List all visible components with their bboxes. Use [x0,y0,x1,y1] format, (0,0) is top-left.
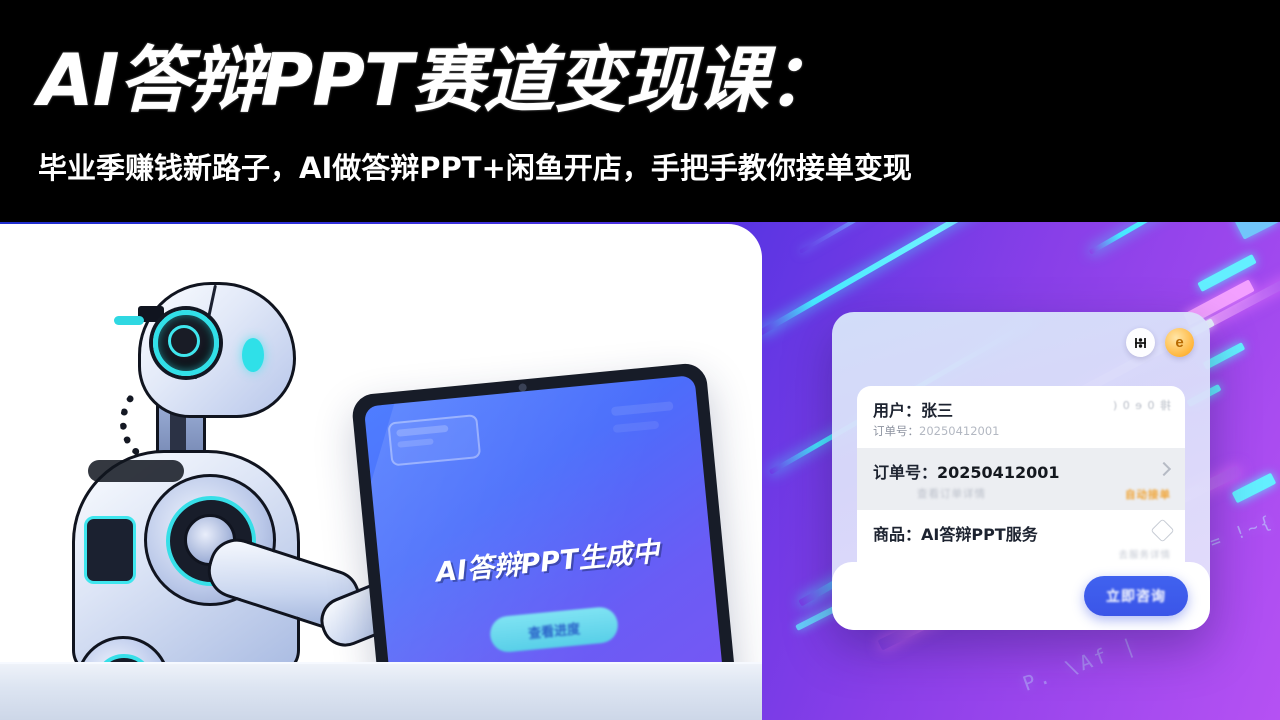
order-card: e 用户： 张三 订单号：20250412001 排 0 e 0 ( [832,312,1210,630]
product-label: 商品： [873,521,921,545]
screen-progress-button-label: 查看进度 [527,618,581,642]
robot-chest-lip [88,460,184,482]
order-row-orderno[interactable]: 订单号： 20250412001 查看订单详情 自动接单 [857,448,1185,510]
badge-icon-glyph: e [1175,335,1183,350]
order-row-user-ghost: 排 0 e 0 ( [1112,396,1171,414]
orderno-value: 20250412001 [937,463,1059,482]
orderno-label: 订单号： [873,459,937,483]
robot-eye-pupil [168,325,200,357]
ai-robot [28,264,358,684]
page-title: AI答辩PPT赛道变现课： [38,40,838,120]
user-value: 张三 [921,397,953,421]
product-value: AI答辩PPT服务 [921,521,1038,545]
robot-ear-light [242,338,264,372]
screen-placeholder-panel [387,414,481,466]
desk-surface [0,664,762,720]
node-graph-icon[interactable] [1126,328,1155,357]
user-label: 用户： [873,397,921,421]
page-subtitle: 毕业季赚钱新路子，AI做答辩PPT+闲鱼开店，手把手教你接单变现 [38,150,912,186]
product-ghost-text: 去服务详情 [1118,547,1171,561]
header-band: AI答辩PPT赛道变现课： 毕业季赚钱新路子，AI做答辩PPT+闲鱼开店，手把手… [0,0,1280,222]
order-row-product[interactable]: 商品： AI答辩PPT服务 去服务详情 [857,510,1185,567]
user-sub-value: 20250412001 [919,424,999,438]
promo-banner: | | ? ! ] < / > ~ | | | | | | ] ? ( ; | … [0,0,1280,720]
order-list: 用户： 张三 订单号：20250412001 排 0 e 0 ( 订单号： 20… [857,386,1185,567]
card-footer: 立即咨询 [832,562,1210,630]
consult-button[interactable]: 立即咨询 [1084,576,1188,616]
order-row-user[interactable]: 用户： 张三 订单号：20250412001 排 0 e 0 ( [857,386,1185,448]
badge-icon[interactable]: e [1165,328,1194,357]
illustration-panel: AI答辩PPT生成中 查看进度 [0,224,762,720]
user-sub: 订单号：20250412001 [873,423,1169,439]
user-sub-label: 订单号： [873,424,919,438]
robot-vent [84,516,136,584]
robot-antenna [114,316,144,325]
status-badge: 自动接单 [1125,487,1171,502]
header-fade [980,0,1280,222]
card-toolbar: e [1126,328,1194,357]
consult-button-label: 立即咨询 [1106,586,1166,606]
